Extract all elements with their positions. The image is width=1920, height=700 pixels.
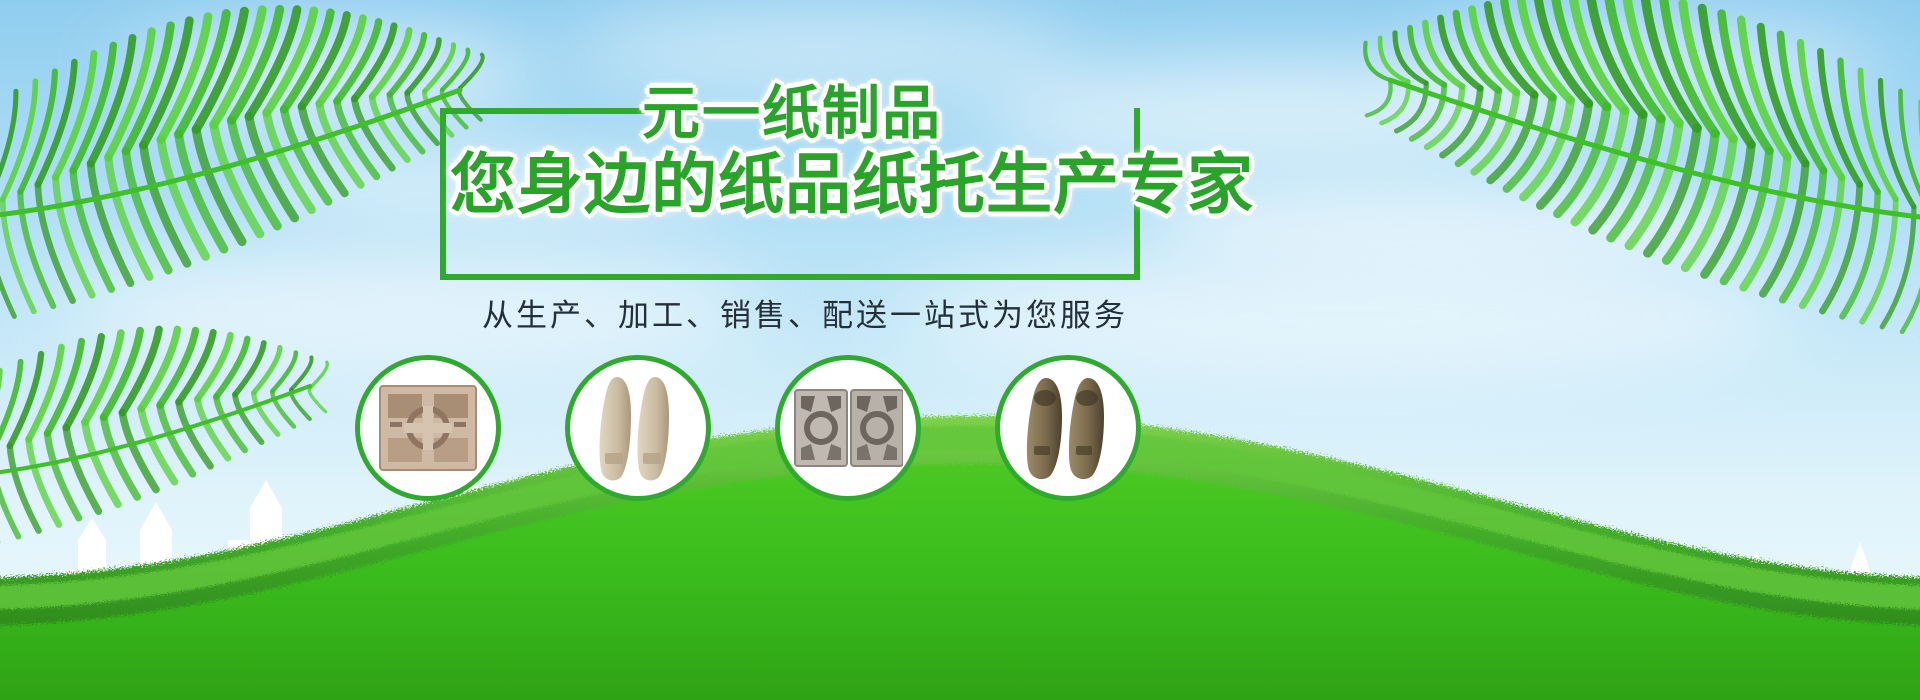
product-circle-4[interactable]: [995, 355, 1141, 501]
cloud-icon: [560, 10, 1080, 90]
product-circle-3[interactable]: [775, 355, 921, 501]
headline-block: 元一纸制品 您身边的纸品纸托生产专家 从生产、加工、销售、配送一站式为您服务: [440, 84, 1160, 334]
palm-leaf-right: [1260, 0, 1920, 410]
promo-banner: 元一纸制品 您身边的纸品纸托生产专家 从生产、加工、销售、配送一站式为您服务: [0, 0, 1920, 700]
subtitle-text: 从生产、加工、销售、配送一站式为您服务: [482, 296, 1128, 336]
pulp-shoe-tree-pair-icon: [593, 369, 683, 487]
product-circle-1[interactable]: [355, 355, 501, 501]
industrial-pulp-tray-pair-icon: [793, 386, 903, 470]
product-circle-2[interactable]: [565, 355, 711, 501]
dark-pulp-shoe-form-pair-icon: [1020, 372, 1116, 484]
palm-leaf-left-lower: [0, 300, 340, 620]
headline-line-1: 元一纸制品: [642, 80, 942, 146]
molded-pulp-tray-icon: [376, 380, 480, 476]
green-bracket-frame-top-right-nub: [1134, 108, 1140, 114]
headline-line-2: 您身边的纸品纸托生产专家: [450, 146, 1254, 224]
